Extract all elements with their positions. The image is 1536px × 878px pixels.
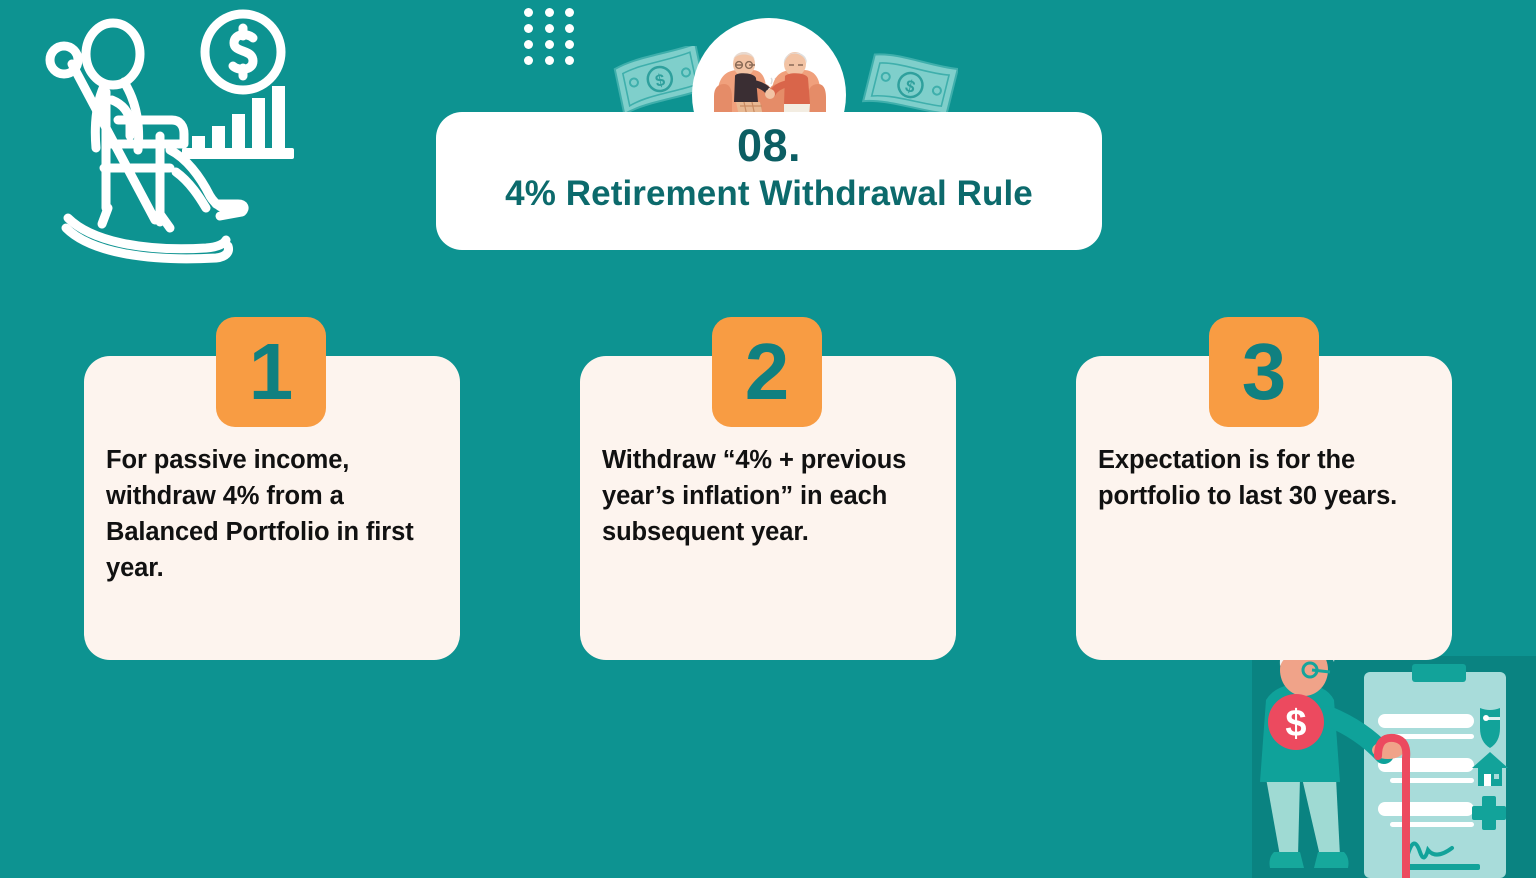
section-number: 08.	[480, 122, 1058, 170]
card-text: Withdraw “4% + previous year’s inflation…	[602, 442, 934, 550]
dot-grid-decoration	[524, 8, 586, 72]
step-badge-1: 1	[216, 317, 326, 427]
card-text: For passive income, withdraw 4% from a B…	[106, 442, 438, 586]
bar-chart-growth-icon	[182, 82, 298, 162]
infographic-slide: $ $	[0, 0, 1536, 878]
step-badge-2: 2	[712, 317, 822, 427]
card-text: Expectation is for the portfolio to last…	[1098, 442, 1430, 514]
insurance-document	[1364, 664, 1508, 878]
senior-with-cane-insurance-document-illustration: $	[1252, 626, 1536, 878]
page-title: 4% Retirement Withdrawal Rule	[480, 170, 1058, 217]
step-badge-3: 3	[1209, 317, 1319, 427]
title-card: 08. 4% Retirement Withdrawal Rule	[436, 112, 1102, 250]
svg-text:$: $	[1285, 703, 1306, 745]
